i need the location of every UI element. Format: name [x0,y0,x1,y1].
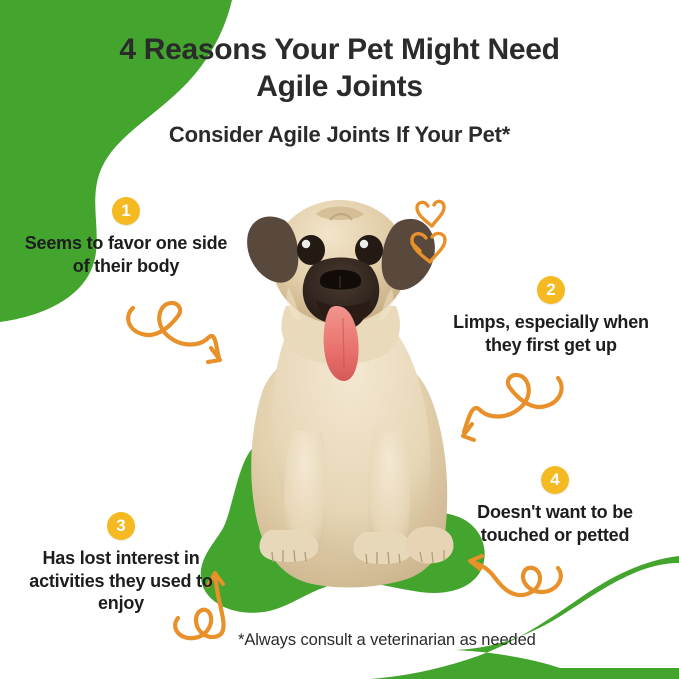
infographic-canvas: 4 Reasons Your Pet Might Need Agile Join… [0,0,679,679]
reason-badge-2: 2 [537,276,565,304]
reason-badge-1: 1 [112,197,140,225]
reason-item-2: 2 Limps, especially when they first get … [440,276,662,356]
reason-item-3: 3 Has lost interest in activities they u… [16,512,226,615]
reason-text-4: Doesn't want to be touched or petted [450,501,660,546]
reason-badge-4: 4 [541,466,569,494]
reason-text-1: Seems to favor one side of their body [18,232,234,277]
reason-item-4: 4 Doesn't want to be touched or petted [450,466,660,546]
reason-item-1: 1 Seems to favor one side of their body [18,197,234,277]
disclaimer-text: *Always consult a veterinarian as needed [238,631,536,650]
page-subtitle: Consider Agile Joints If Your Pet* [0,122,679,148]
reason-text-3: Has lost interest in activities they use… [16,547,226,615]
reason-badge-3: 3 [107,512,135,540]
title-line-2: Agile Joints [60,69,619,106]
text-layer: 4 Reasons Your Pet Might Need Agile Join… [0,0,679,679]
page-title: 4 Reasons Your Pet Might Need Agile Join… [0,32,679,105]
title-line-1: 4 Reasons Your Pet Might Need [60,32,619,69]
reason-text-2: Limps, especially when they first get up [440,311,662,356]
